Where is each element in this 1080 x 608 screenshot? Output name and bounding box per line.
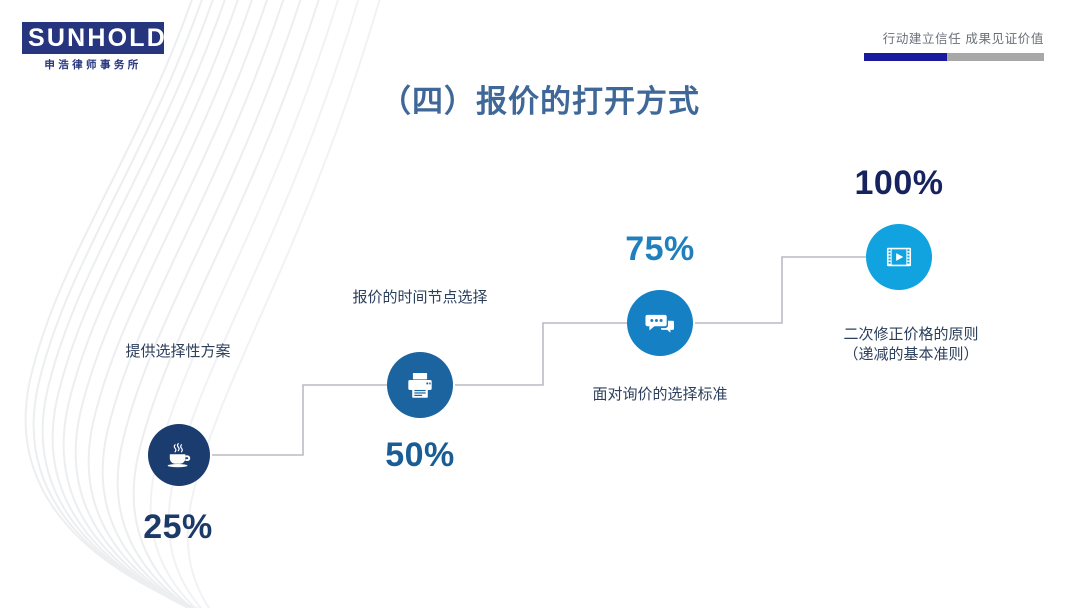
step-1-percent: 25% (88, 508, 268, 547)
logo-wordmark: SUNHOLD (28, 25, 158, 52)
step-4-caption-line-2: （递减的基本准则） (786, 345, 1036, 365)
header-tagline: 行动建立信任 成果见证价值 (864, 28, 1044, 61)
step-3-caption: 面对询价的选择标准 (540, 385, 780, 405)
tagline-bar-gray-segment (947, 53, 1044, 61)
step-1-circle[interactable] (148, 424, 210, 486)
step-4-caption-line-1: 二次修正价格的原则 (786, 325, 1036, 345)
tagline-bar-blue-segment (864, 53, 947, 61)
presentation-slide: SUNHOLD 申浩律师事务所 行动建立信任 成果见证价值 （四）报价的打开方式… (0, 0, 1080, 608)
coffee-cup-icon (162, 438, 196, 472)
logo-subtitle: 申浩律师事务所 (22, 57, 164, 72)
step-3-percent: 75% (570, 230, 750, 269)
step-1-caption: 提供选择性方案 (58, 342, 298, 362)
page-title: （四）报价的打开方式 (0, 76, 1080, 121)
step-2-caption: 报价的时间节点选择 (300, 288, 540, 308)
step-4-circle[interactable] (866, 224, 932, 290)
step-2-percent: 50% (330, 436, 510, 475)
step-4-percent: 100% (809, 164, 989, 203)
company-logo: SUNHOLD 申浩律师事务所 (22, 22, 172, 72)
logo-mark-box: SUNHOLD (22, 22, 164, 54)
step-3-circle[interactable] (627, 290, 693, 356)
step-2-circle[interactable] (387, 352, 453, 418)
chat-bubbles-icon (643, 306, 677, 340)
tagline-text: 行动建立信任 成果见证价值 (864, 28, 1044, 47)
video-play-icon (882, 240, 916, 274)
step-4-caption: 二次修正价格的原则 （递减的基本准则） (786, 325, 1036, 366)
printer-icon (403, 368, 437, 402)
tagline-accent-bar (864, 53, 1044, 61)
